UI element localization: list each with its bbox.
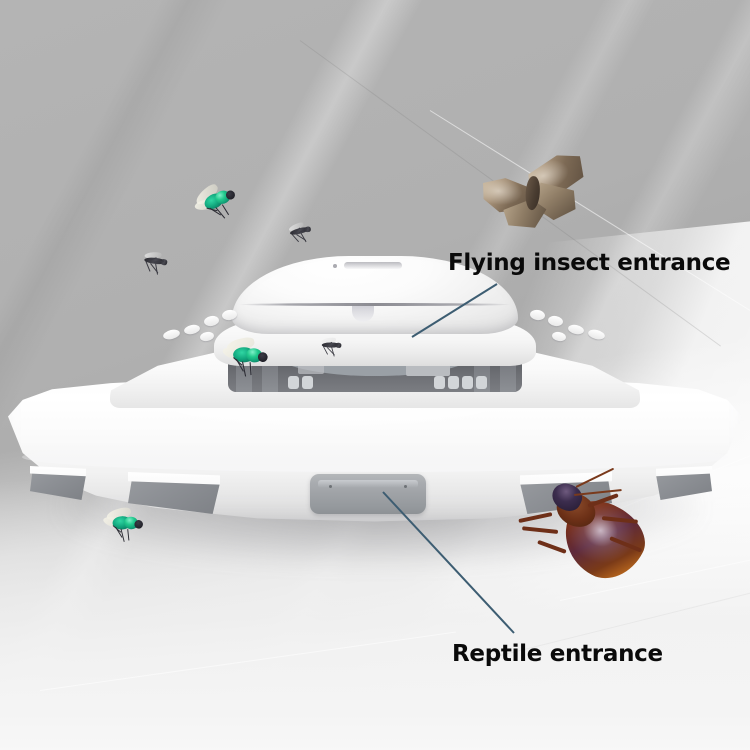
rim-bump (567, 323, 585, 335)
rim-bump (203, 315, 220, 327)
panel-screw-dot (329, 485, 332, 488)
panel-highlight-strip (318, 480, 418, 488)
vent-far-left (30, 466, 86, 500)
rim-bump (199, 331, 214, 342)
insect-leg (127, 529, 129, 540)
cockroach-lower-right (536, 478, 668, 594)
fly-head (134, 519, 144, 529)
vent-left (128, 472, 220, 514)
rim-bump (162, 328, 181, 341)
rim-bump (183, 323, 201, 335)
gap-grill (288, 376, 299, 389)
gap-grill (302, 376, 313, 389)
rim-bump (587, 328, 606, 341)
gap-grill (476, 376, 487, 389)
panel-screw-dot (404, 485, 407, 488)
insect-leg (222, 204, 229, 215)
rim-bump (551, 331, 566, 342)
callout-label-reptile-entrance: Reptile entrance (452, 641, 663, 667)
gnat-head (160, 258, 168, 266)
body-lower-crease (22, 442, 728, 472)
rim-bump (529, 309, 545, 321)
gap-grill (462, 376, 473, 389)
gap-grill (434, 376, 445, 389)
insect-leg (250, 362, 252, 375)
rim-bump (547, 315, 564, 327)
dome-dot (333, 264, 337, 268)
callout-label-flying-insect-entrance: Flying insect entrance (448, 250, 730, 276)
roach-leg (537, 540, 567, 554)
product-image-stage: Flying insect entrance Reptile entrance (0, 0, 750, 750)
gap-grill (448, 376, 459, 389)
dome-seam-line (238, 303, 512, 306)
moth-top-right (473, 152, 596, 242)
dome-tab (344, 262, 402, 269)
gnat-upper-mid (283, 221, 316, 243)
